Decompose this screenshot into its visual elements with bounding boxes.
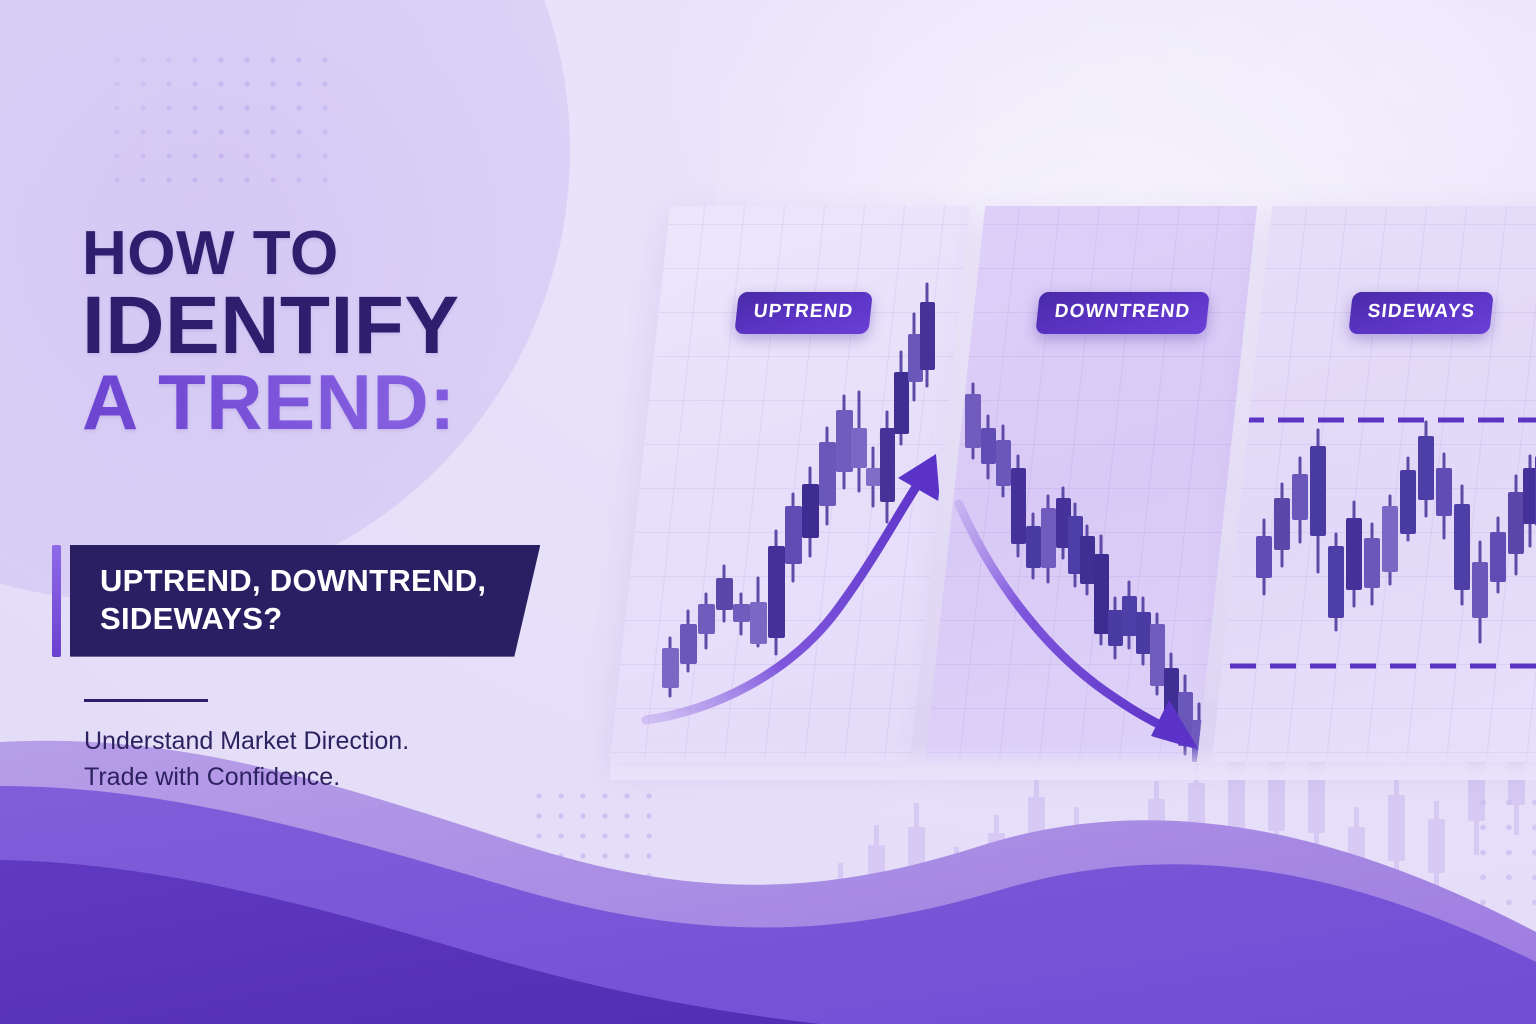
tag-downtrend[interactable]: DOWNTREND — [1035, 292, 1209, 334]
panel-sideways[interactable]: SIDEWAYS — [1212, 206, 1536, 762]
downtrend-candlestick-chart — [955, 206, 1227, 762]
panel-bottom-fade — [610, 746, 1536, 780]
headline-line-3: A TREND: — [82, 367, 642, 439]
subtitle-band: UPTREND, DOWNTREND, SIDEWAYS? — [52, 545, 540, 657]
chart-panel-group: UPTREND — [610, 206, 1536, 762]
subtitle-line-2: Trade with Confidence. — [84, 759, 409, 795]
tag-sideways[interactable]: SIDEWAYS — [1348, 292, 1494, 334]
poster-canvas: HOW TO IDENTIFY A TREND: UPTREND, DOWNTR… — [0, 0, 1536, 1024]
band-text-block: UPTREND, DOWNTREND, SIDEWAYS? — [70, 545, 540, 657]
dot-grid-top-left-icon — [104, 48, 340, 184]
band-line-1: UPTREND, DOWNTREND, — [100, 562, 486, 600]
subtitle-line-1: Understand Market Direction. — [84, 723, 409, 759]
subtitle-block: Understand Market Direction. Trade with … — [84, 723, 409, 796]
band-line-2: SIDEWAYS? — [100, 600, 486, 638]
uptrend-candlestick-chart — [640, 206, 940, 762]
band-accent-bar — [52, 545, 61, 657]
panel-downtrend[interactable]: DOWNTREND — [925, 206, 1257, 762]
tag-uptrend[interactable]: UPTREND — [734, 292, 872, 334]
panel-uptrend[interactable]: UPTREND — [610, 206, 970, 762]
sideways-candlestick-chart — [1242, 206, 1536, 762]
divider-rule — [84, 699, 208, 702]
headline-line-2: IDENTIFY — [82, 288, 642, 363]
headline-block: HOW TO IDENTIFY A TREND: — [82, 225, 642, 439]
headline-line-1: HOW TO — [82, 225, 642, 282]
